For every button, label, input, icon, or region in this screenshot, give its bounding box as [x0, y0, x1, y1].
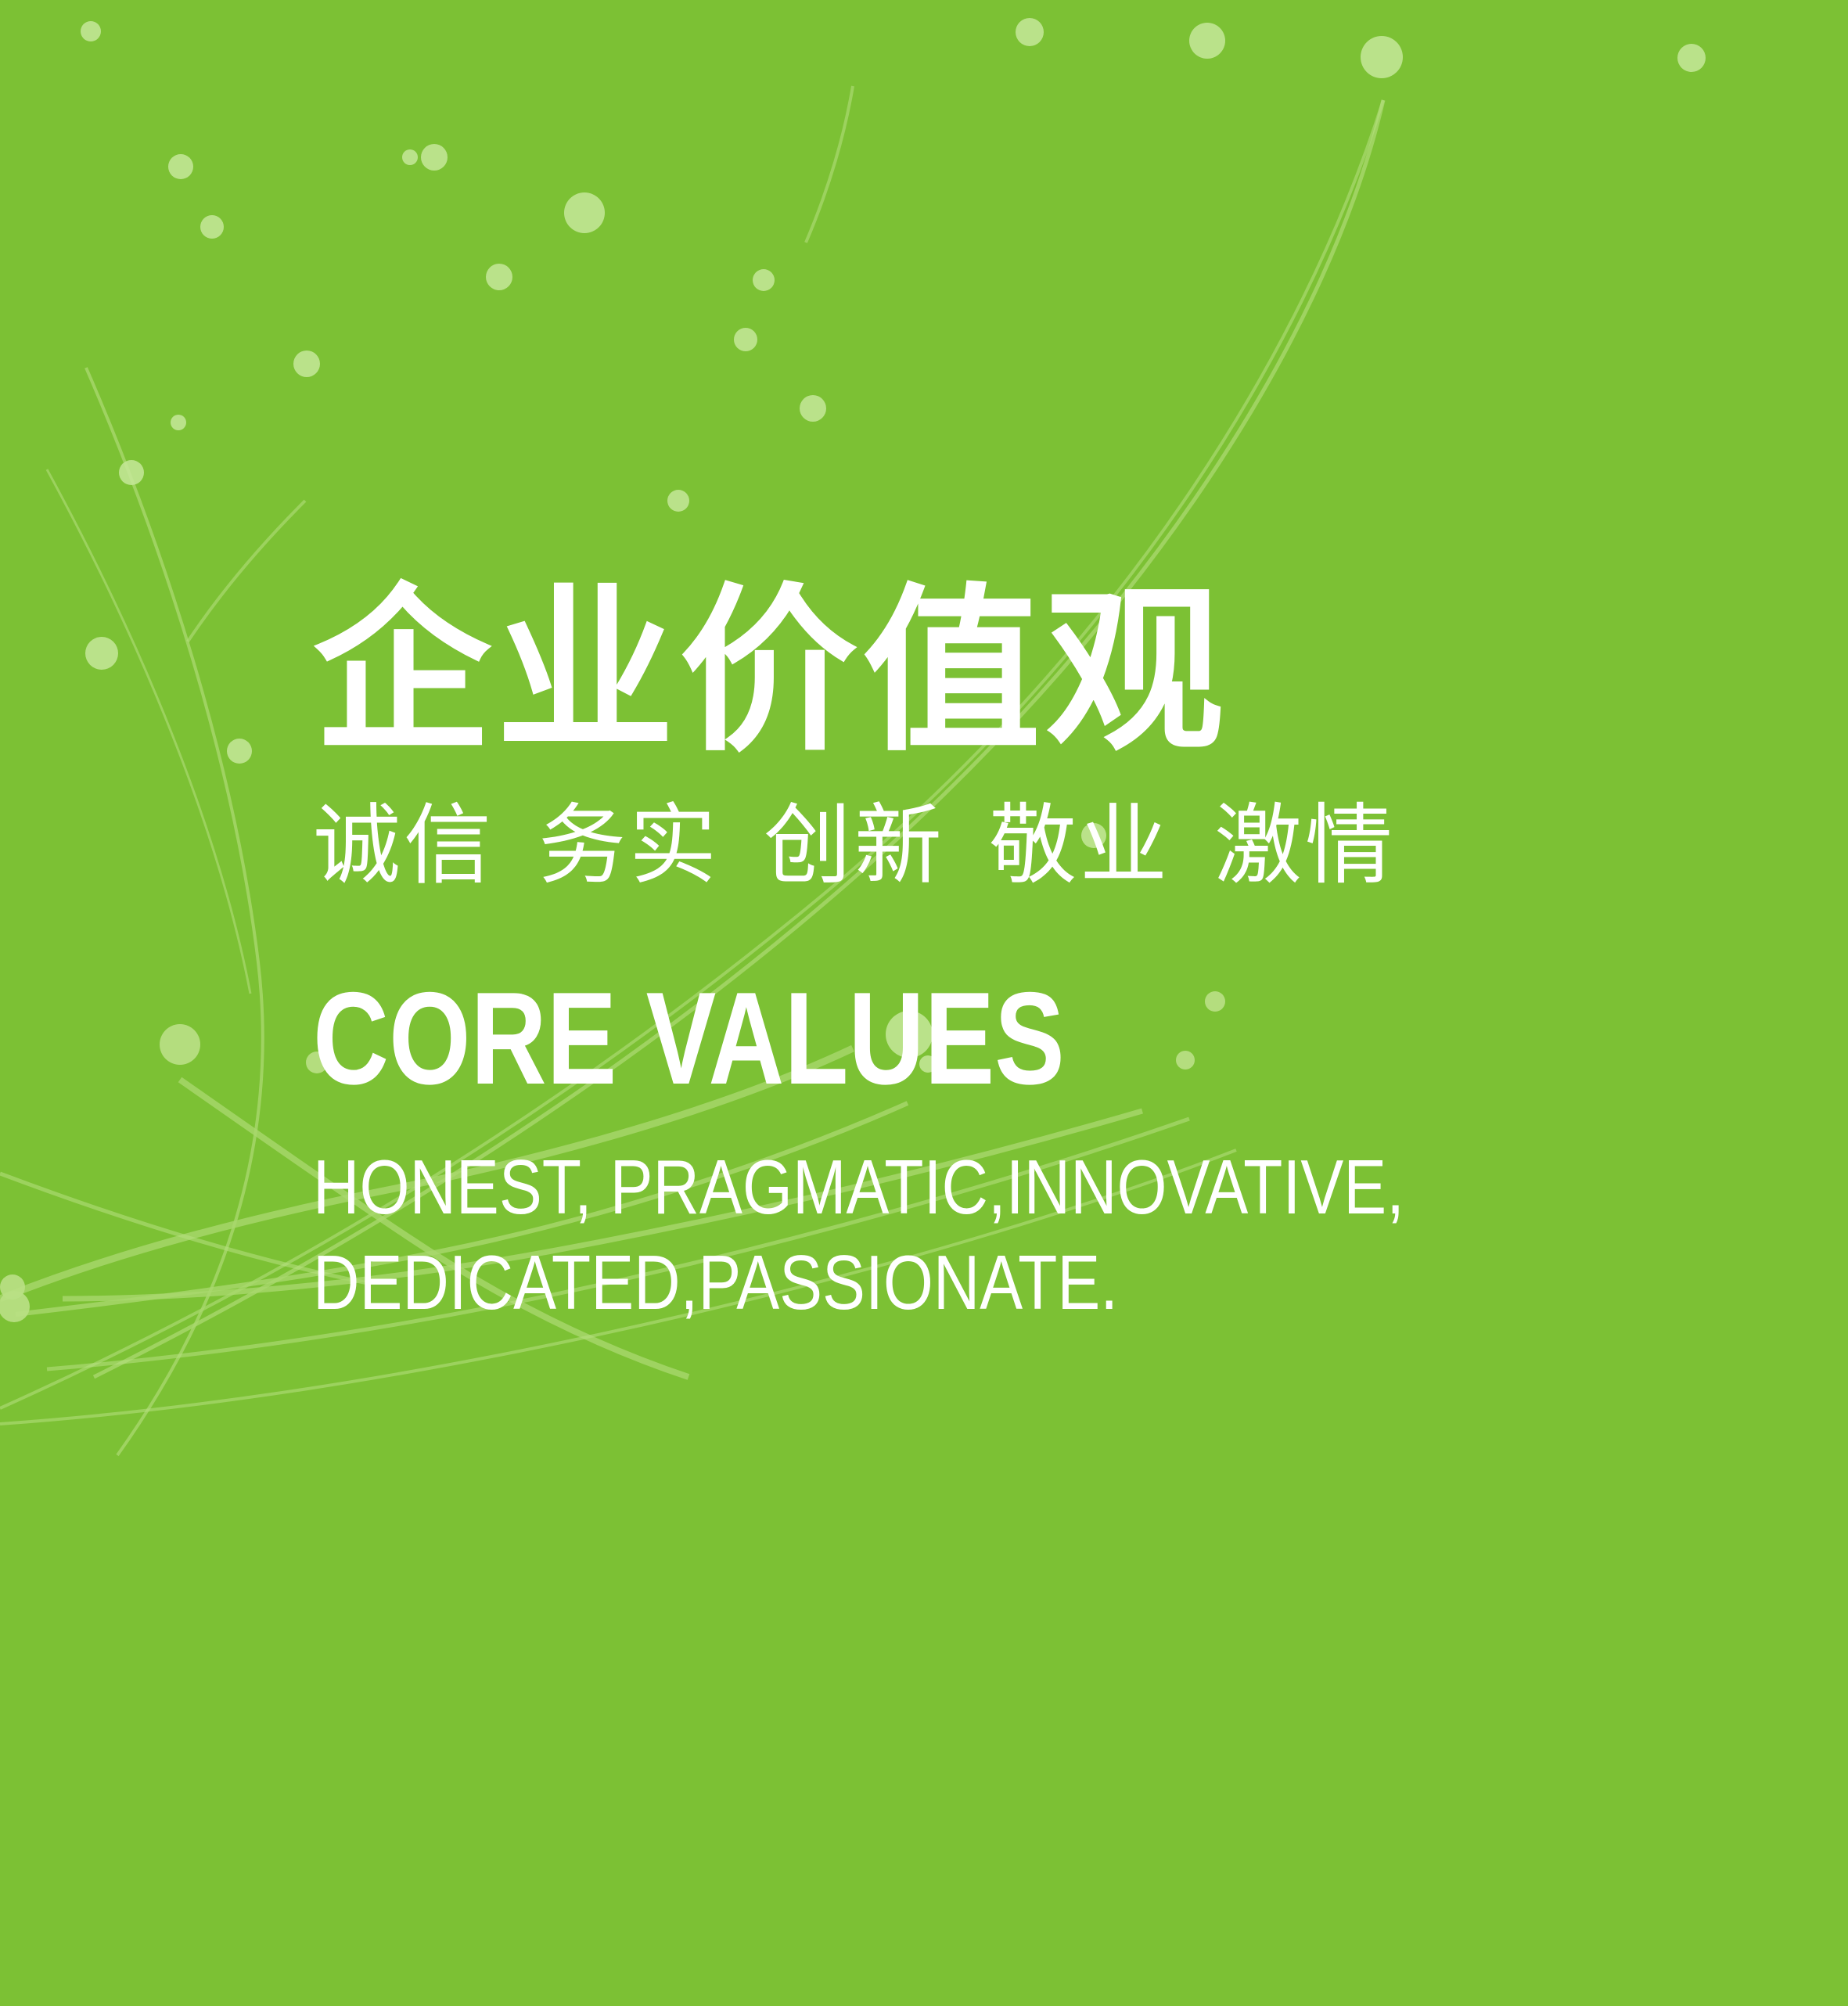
value-item-jingye: 敬业: [989, 796, 1170, 894]
core-values-poster: .ln { fill:none; stroke:#a9d96e; stroke-…: [0, 0, 1848, 2006]
tagline-line-2: DEDICATED,PASSIONATE.: [313, 1235, 1562, 1331]
page-title-english: CORE VALUES: [313, 890, 1502, 1104]
poster-content: 企业价值观 诚信务实创新敬业激情 CORE VALUES HONEST, PRA…: [313, 583, 1799, 1330]
core-values-list-english: HONEST, PRAGMATIC,INNOVATIVE, DEDICATED,…: [313, 1104, 1562, 1330]
tagline-line-1: HONEST, PRAGMATIC,INNOVATIVE,: [313, 1140, 1562, 1235]
core-values-list-chinese: 诚信务实创新敬业激情: [313, 761, 1799, 890]
value-item-chuangxin: 创新: [764, 796, 945, 894]
value-item-jiqing: 激情: [1214, 796, 1396, 894]
value-item-chengxin: 诚信: [313, 796, 494, 894]
value-item-wushi: 务实: [538, 796, 720, 894]
page-title-chinese: 企业价值观: [313, 583, 1799, 761]
